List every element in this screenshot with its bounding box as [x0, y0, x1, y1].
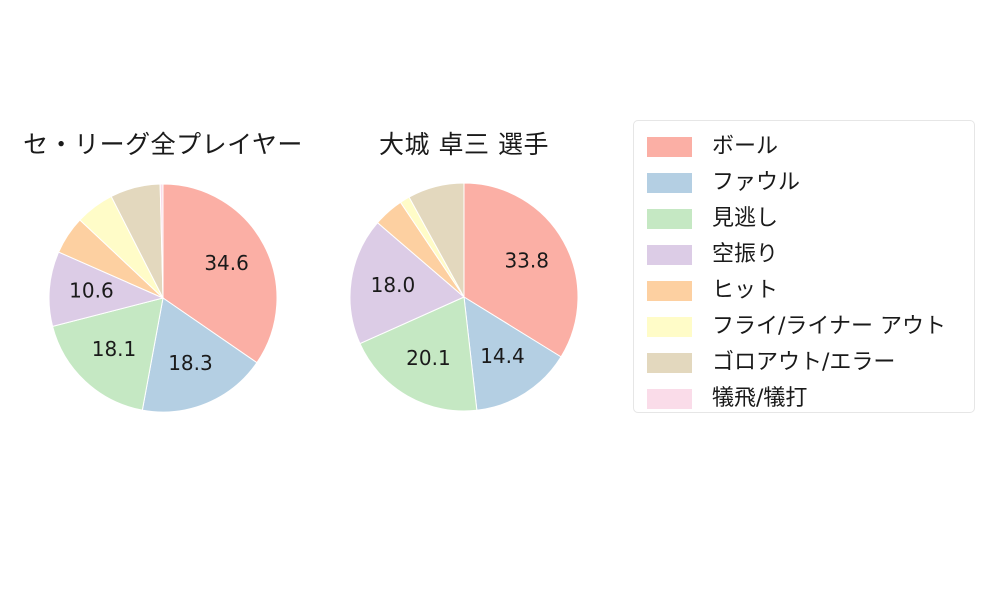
legend-item-label: ボール [712, 136, 778, 158]
legend-color-swatch [647, 137, 692, 157]
legend-item[interactable]: ヒット [647, 273, 974, 309]
legend-item[interactable]: 空振り [647, 237, 974, 273]
legend-item[interactable]: 見逃し [647, 201, 974, 237]
legend-item[interactable]: ファウル [647, 165, 974, 201]
legend-item-label: ヒット [712, 280, 778, 302]
pie-slice-label: 34.6 [204, 251, 249, 275]
legend-color-swatch [647, 245, 692, 265]
legend-item-label: 空振り [712, 244, 778, 266]
pie-slice-label: 18.1 [92, 337, 137, 361]
pie-slice-label: 18.0 [371, 273, 416, 297]
legend-item-label: フライ/ライナー アウト [712, 316, 946, 338]
legend-item-label: 見逃し [712, 208, 778, 230]
legend-item-label: 犠飛/犠打 [712, 388, 807, 410]
legend-item-label: ファウル [712, 172, 800, 194]
pie-slice-label: 14.4 [480, 344, 525, 368]
pie-slice-label: 20.1 [406, 346, 451, 370]
legend-color-swatch [647, 209, 692, 229]
legend-list: ボールファウル見逃し空振りヒットフライ/ライナー アウトゴロアウト/エラー犠飛/… [647, 129, 974, 412]
pie-svg-league: 34.618.318.110.6 [48, 183, 278, 413]
pie-canvas-league: 34.618.318.110.6 [48, 183, 278, 413]
legend-item-label: ゴロアウト/エラー [712, 352, 895, 374]
legend-item[interactable]: ボール [647, 129, 974, 165]
legend-item[interactable]: ゴロアウト/エラー [647, 345, 974, 381]
legend-color-swatch [647, 389, 692, 409]
legend-color-swatch [647, 173, 692, 193]
pie-chart-panel-league: セ・リーグ全プレイヤー 34.618.318.110.6 [0, 120, 326, 420]
legend-item[interactable]: フライ/ライナー アウト [647, 309, 974, 345]
pie-slice-label: 10.6 [69, 279, 114, 303]
pie-slice-label: 33.8 [504, 249, 549, 273]
legend-item[interactable]: 犠飛/犠打 [647, 381, 974, 417]
pie-svg-player: 33.814.420.118.0 [349, 182, 579, 412]
legend-color-swatch [647, 353, 692, 373]
legend-panel: ボールファウル見逃し空振りヒットフライ/ライナー アウトゴロアウト/エラー犠飛/… [633, 120, 975, 413]
pie-canvas-player: 33.814.420.118.0 [349, 182, 579, 412]
pie-chart-panel-player: 大城 卓三 選手 33.814.420.118.0 [330, 120, 598, 420]
chart-title-player: 大城 卓三 選手 [330, 132, 598, 157]
legend-color-swatch [647, 317, 692, 337]
chart-title-league: セ・リーグ全プレイヤー [0, 132, 326, 157]
pie-slice-label: 18.3 [168, 351, 213, 375]
legend-color-swatch [647, 281, 692, 301]
